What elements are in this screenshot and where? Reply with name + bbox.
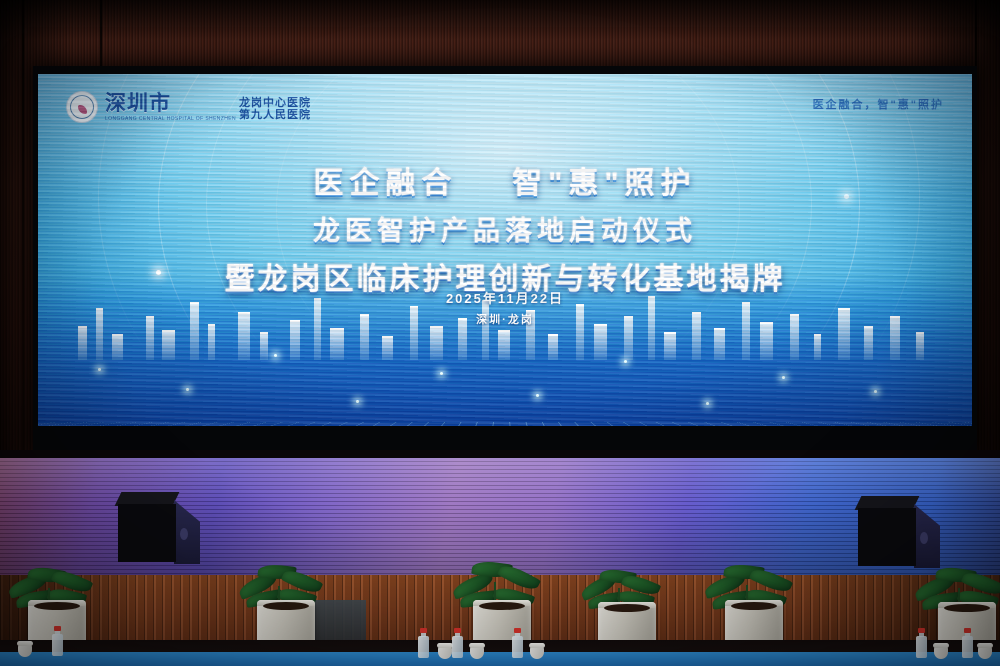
hospital-logo-block: 深圳市 LONGGANG CENTRAL HOSPITAL OF SHENZHE… bbox=[66, 91, 311, 123]
city-name: 深圳市 bbox=[105, 93, 236, 114]
event-date: 2025年11月22日 bbox=[38, 288, 972, 307]
title-line-1: 医企融合 智"惠"照护 bbox=[38, 158, 972, 202]
screen-slogan: 医企融合，智"惠"照护 bbox=[813, 96, 944, 112]
potted-plant bbox=[592, 572, 662, 650]
hospital-english-name: LONGGANG CENTRAL HOSPITAL OF SHENZHEN bbox=[105, 116, 236, 122]
event-title-block: 医企融合 智"惠"照护 龙医智护产品落地启动仪式 暨龙岗区临床护理创新与转化基地… bbox=[38, 158, 972, 298]
title-line-1-left: 医企融合 bbox=[313, 167, 457, 200]
conference-hall-scene: 深圳市 LONGGANG CENTRAL HOSPITAL OF SHENZHE… bbox=[0, 0, 1000, 666]
event-meta-block: 2025年11月22日 深圳·龙岗 bbox=[38, 288, 972, 327]
front-table-cloth bbox=[0, 652, 1000, 666]
event-location: 深圳·龙岗 bbox=[38, 311, 972, 327]
potted-plant bbox=[718, 568, 790, 648]
perspective-grid bbox=[38, 422, 972, 426]
hospital-name-line2: 第九人民医院 bbox=[239, 110, 311, 122]
hospital-crest-icon bbox=[66, 91, 98, 123]
potted-plant bbox=[466, 566, 538, 648]
title-line-2: 龙医智护产品落地启动仪式 bbox=[38, 209, 972, 248]
wall-top-shadow bbox=[0, 0, 1000, 40]
potted-plant bbox=[250, 568, 322, 648]
led-screen: 深圳市 LONGGANG CENTRAL HOSPITAL OF SHENZHE… bbox=[38, 74, 972, 426]
title-line-1-right: 智"惠"照护 bbox=[512, 167, 696, 200]
